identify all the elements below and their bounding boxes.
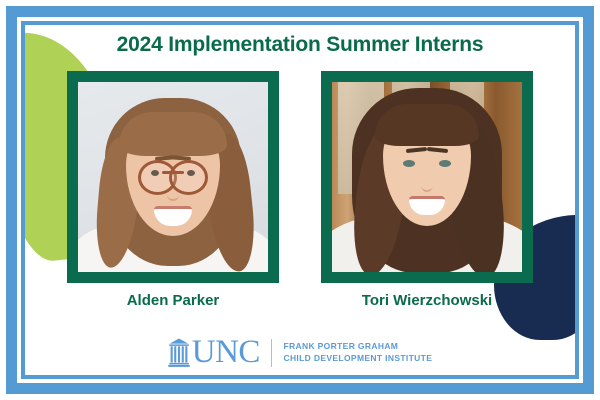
poster-canvas: 2024 Implementation Summer Interns [25, 25, 575, 375]
unc-wordmark: UNC [168, 336, 260, 369]
poster-graphic: 2024 Implementation Summer Interns [0, 0, 600, 400]
intern-name-label: Alden Parker [127, 292, 220, 309]
interns-row: Alden Parker [25, 71, 575, 309]
intern-card-alden-parker: Alden Parker [67, 71, 279, 309]
footer-logo-area: UNC FRANK PORTER GRAHAM CHILD DEVELOPMEN… [25, 336, 575, 369]
institute-name-line-2: CHILD DEVELOPMENT INSTITUTE [283, 354, 432, 363]
page-title: 2024 Implementation Summer Interns [25, 33, 575, 57]
unc-fpg-logo-lockup: UNC FRANK PORTER GRAHAM CHILD DEVELOPMEN… [168, 336, 432, 369]
institute-name-line-1: FRANK PORTER GRAHAM [283, 342, 432, 351]
institute-name: FRANK PORTER GRAHAM CHILD DEVELOPMENT IN… [283, 342, 432, 363]
portrait-tori-wierzchowski [321, 71, 533, 283]
unc-letters: UNC [192, 336, 260, 369]
old-well-rotunda-icon [168, 338, 190, 368]
intern-name-label: Tori Wierzchowski [362, 292, 492, 309]
logo-divider [271, 339, 273, 367]
portrait-alden-parker [67, 71, 279, 283]
intern-card-tori-wierzchowski: Tori Wierzchowski [321, 71, 533, 309]
